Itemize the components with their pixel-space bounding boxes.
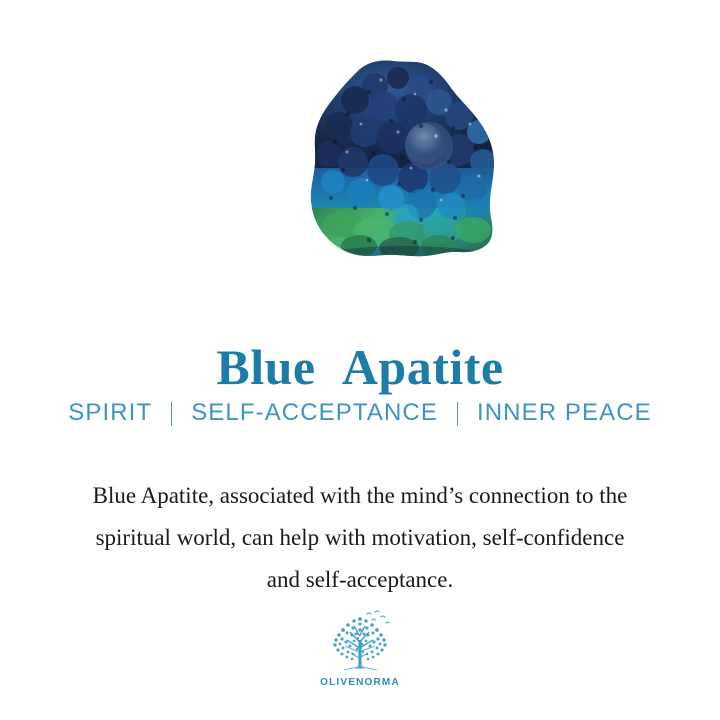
product-info-card: Blue Apatite SPIRIT SELF-ACCEPTANCE INNE… [0, 0, 720, 720]
description-line: spiritual world, can help with motivatio… [30, 517, 690, 559]
description-line: Blue Apatite, associated with the mind’s… [30, 475, 690, 517]
blue-apatite-specimen-image [303, 58, 507, 264]
keyword-separator [171, 402, 172, 426]
keyword-inner-peace: INNER PEACE [477, 398, 652, 428]
keyword-self-acceptance: SELF-ACCEPTANCE [191, 398, 438, 428]
central-nodule [405, 122, 453, 170]
brand-logo: OLIVENORMA [0, 608, 720, 688]
specimen-body [303, 58, 507, 264]
keyword-separator [457, 402, 458, 426]
tree-of-life-icon [323, 608, 397, 676]
brand-name: OLIVENORMA [320, 677, 400, 688]
keyword-spirit: SPIRIT [68, 398, 152, 428]
page-title: Blue Apatite [0, 337, 720, 397]
description-text: Blue Apatite, associated with the mind’s… [30, 475, 690, 601]
keyword-list: SPIRIT SELF-ACCEPTANCE INNER PEACE [0, 398, 720, 428]
description-line: and self-acceptance. [30, 559, 690, 601]
specimen-illustration [303, 58, 507, 264]
